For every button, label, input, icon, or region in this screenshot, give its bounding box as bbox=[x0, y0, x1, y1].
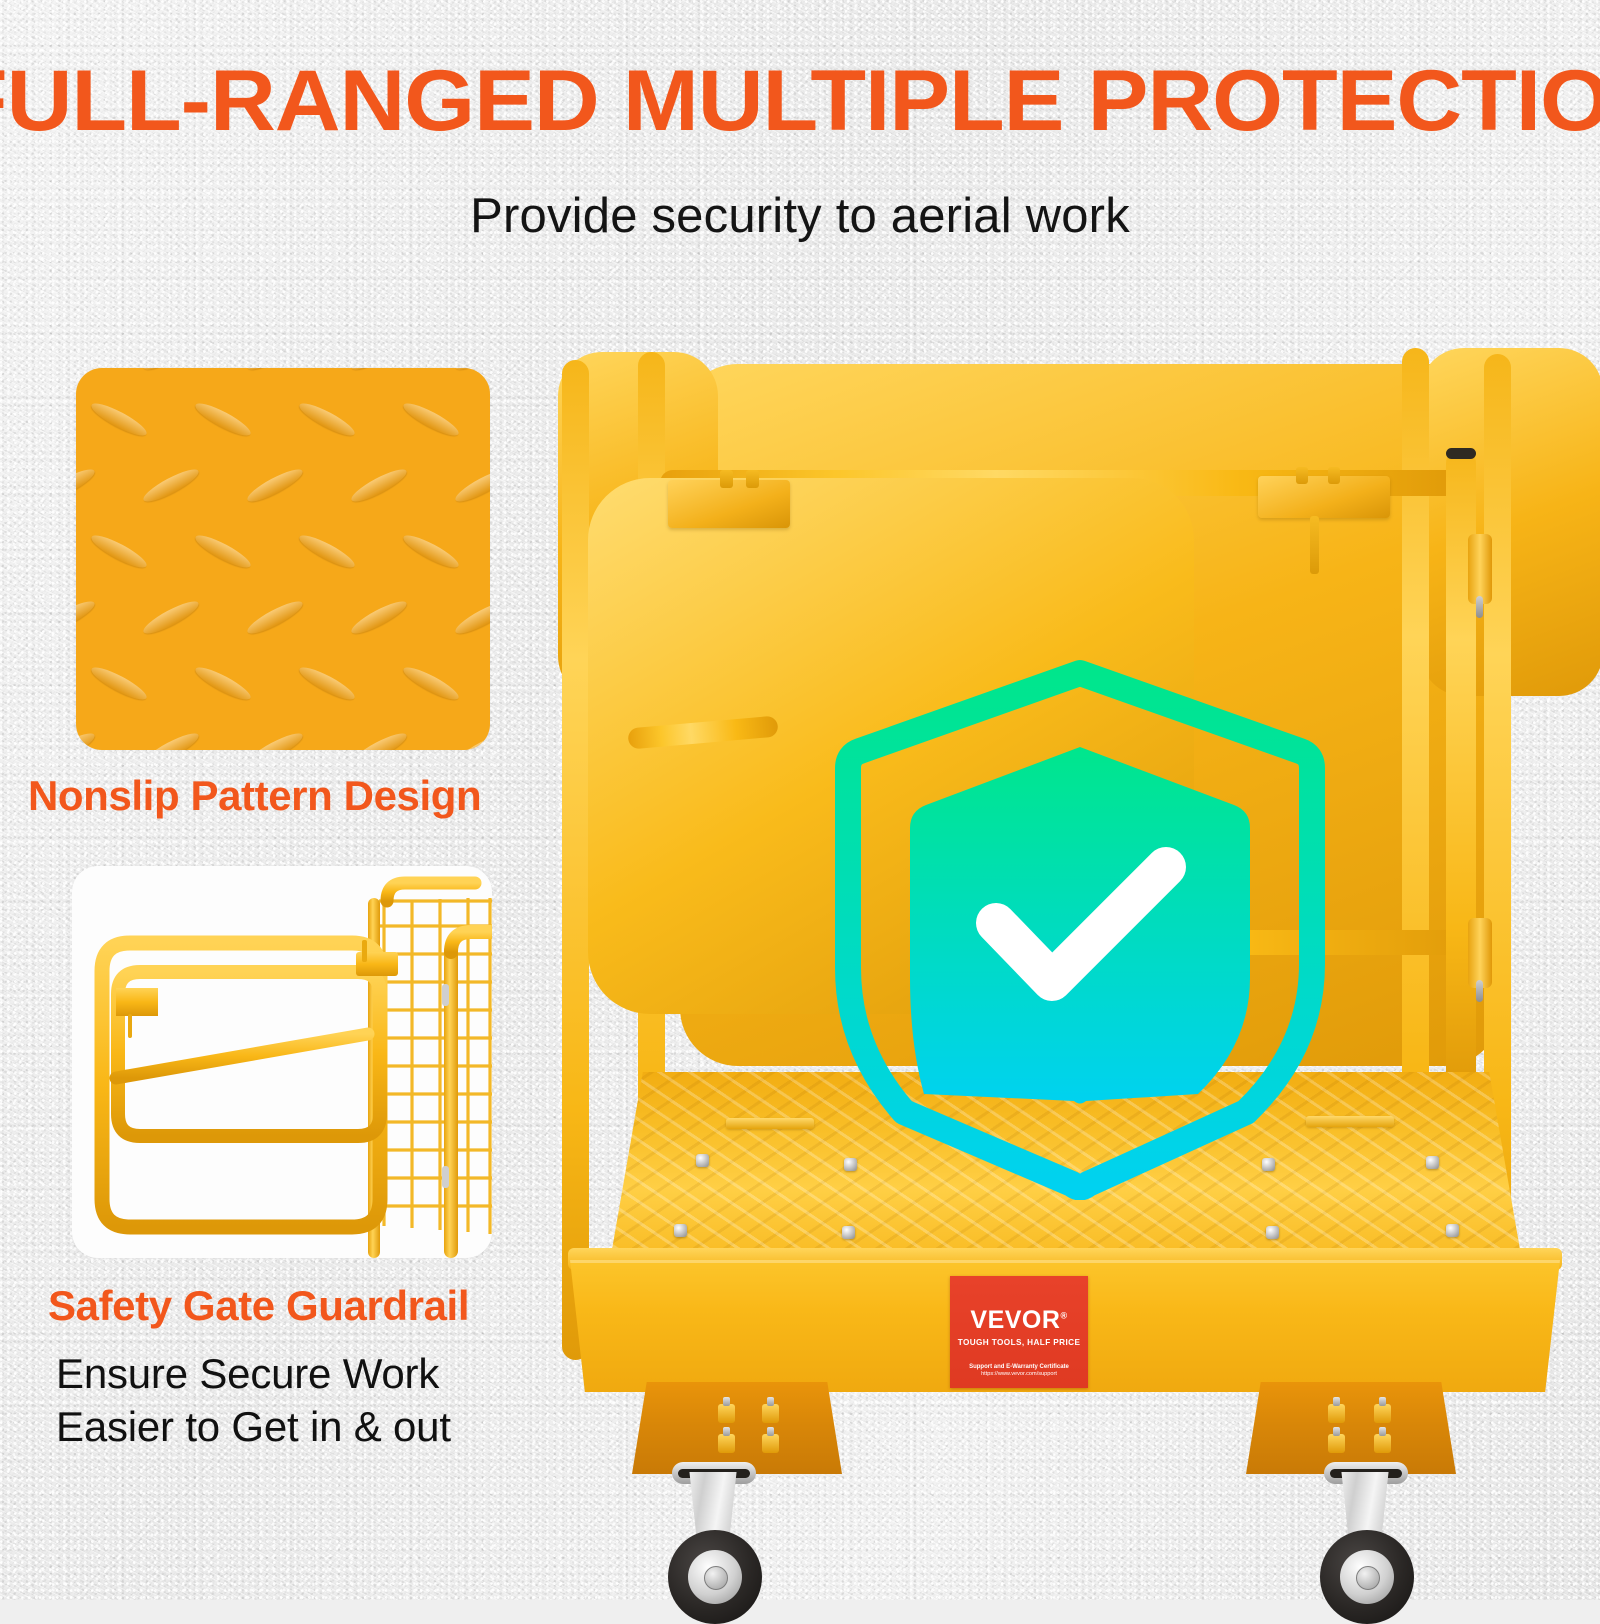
diamond-plate-texture bbox=[76, 368, 490, 750]
brand-tagline: TOUGH TOOLS, HALF PRICE bbox=[950, 1338, 1088, 1347]
brand-name: VEVOR® bbox=[950, 1308, 1088, 1333]
gate-illustration bbox=[72, 866, 492, 1258]
gate-latch-bracket-left bbox=[668, 480, 790, 528]
gate-latch-bracket-right bbox=[1258, 476, 1390, 518]
nonslip-feature-title: Nonslip Pattern Design bbox=[28, 772, 481, 820]
page-title: FULL-RANGED MULTIPLE PROTECTION bbox=[0, 58, 1600, 144]
gate-hinge-post bbox=[1446, 448, 1476, 1088]
support-url: https://www.vevor.com/support bbox=[950, 1371, 1088, 1377]
caster-mount-right bbox=[1246, 1382, 1456, 1474]
caster-mount-left bbox=[632, 1382, 842, 1474]
caster-axle bbox=[1356, 1566, 1380, 1590]
caster-axle bbox=[704, 1566, 728, 1590]
gate-hinge-upper bbox=[1468, 534, 1492, 604]
deck-hinge-left bbox=[726, 1118, 814, 1129]
vevor-brand-label: VEVOR® TOUGH TOOLS, HALF PRICE Support a… bbox=[950, 1276, 1088, 1388]
page-subtitle: Provide security to aerial work bbox=[0, 188, 1600, 244]
safety-gate-thumbnail bbox=[72, 866, 492, 1258]
support-line: Support and E-Warranty Certificate bbox=[950, 1364, 1088, 1370]
nonslip-pattern-thumbnail bbox=[76, 368, 490, 750]
gate-feature-title: Safety Gate Guardrail bbox=[48, 1282, 469, 1330]
shield-check-badge bbox=[830, 655, 1330, 1200]
gate-hinge-lower bbox=[1468, 918, 1492, 988]
corner-post-left-outer bbox=[562, 360, 589, 1360]
post-end-cap-top bbox=[1446, 448, 1476, 459]
gate-feature-description: Ensure Secure Work Easier to Get in & ou… bbox=[56, 1348, 451, 1454]
